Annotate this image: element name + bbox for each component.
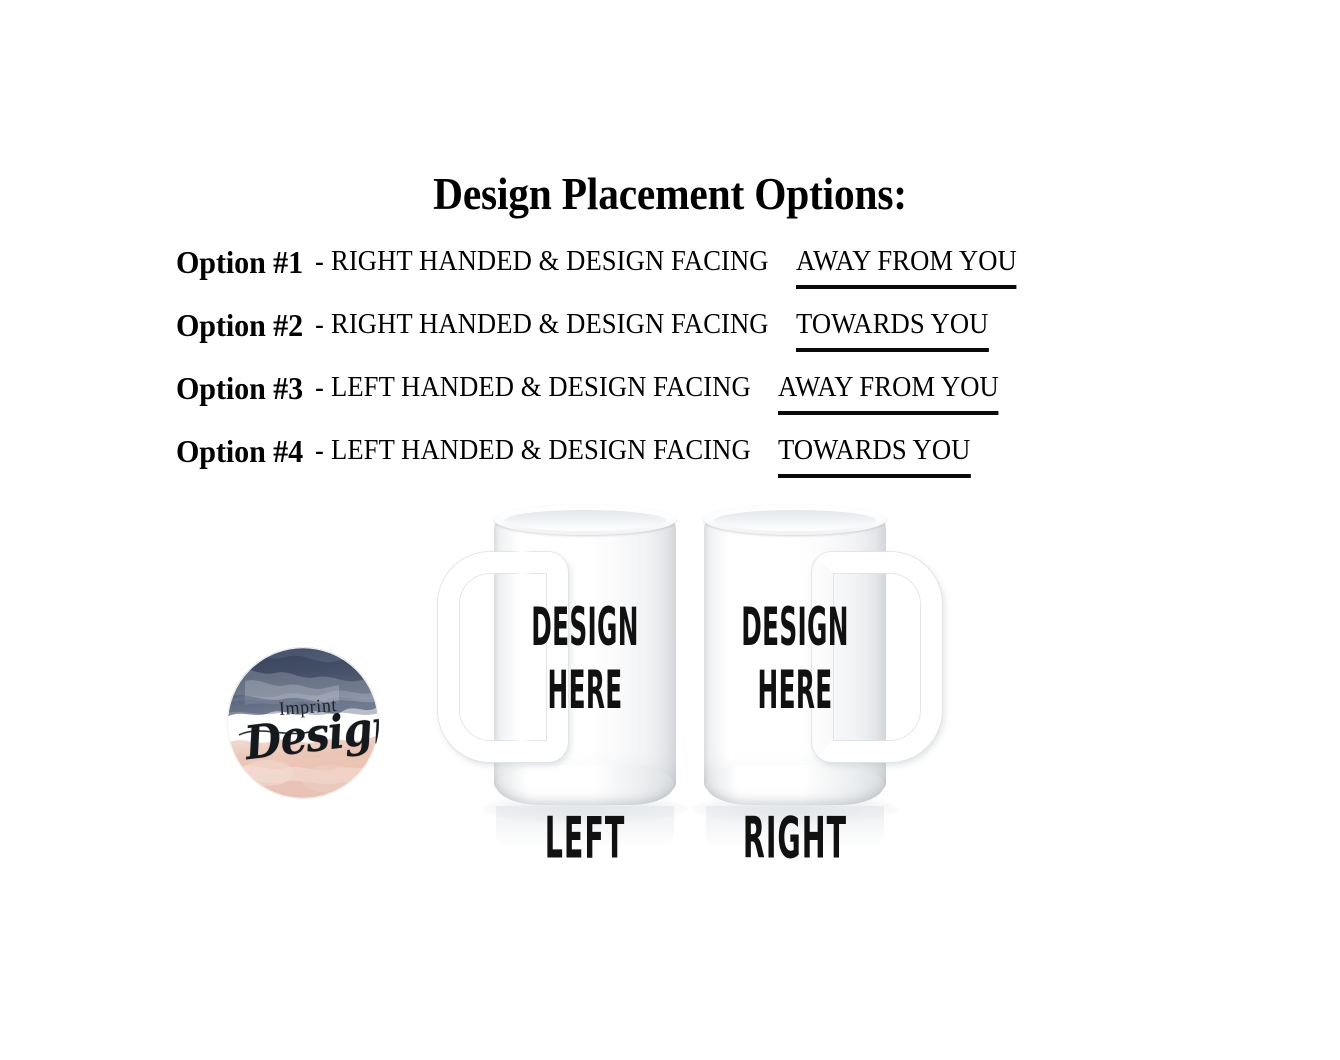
option-emphasis-2: TOWARDS YOU xyxy=(796,306,988,352)
option-body-3: LEFT HANDED & DESIGN FACING xyxy=(331,369,751,407)
option-separator-1: - xyxy=(311,243,331,281)
option-row-3: Option #3 - LEFT HANDED & DESIGN FACING … xyxy=(176,369,1160,432)
mug-right-caption: RIGHT xyxy=(735,808,855,869)
option-body-2: RIGHT HANDED & DESIGN FACING xyxy=(331,306,769,344)
option-body-1: RIGHT HANDED & DESIGN FACING xyxy=(331,243,769,281)
watercolor-badge-icon xyxy=(227,647,379,799)
page-title: Design Placement Options: xyxy=(54,168,1287,220)
mug-right-rim-inner xyxy=(714,510,876,531)
mug-illustration-group: DESIGN HERE LEFT DESIGN HERE RIGHT xyxy=(0,0,1340,1060)
mug-left-rim-inner xyxy=(504,510,666,531)
option-emphasis-1: AWAY FROM YOU xyxy=(796,243,1017,289)
mug-left-caption: LEFT xyxy=(525,808,645,869)
option-separator-2: - xyxy=(311,306,331,344)
option-label-1: Option #1 xyxy=(176,243,303,281)
option-label-3: Option #3 xyxy=(176,369,303,407)
mug-left-print: DESIGN HERE xyxy=(527,596,643,723)
option-emphasis-3: AWAY FROM YOU xyxy=(778,369,999,415)
option-row-4: Option #4 - LEFT HANDED & DESIGN FACING … xyxy=(176,432,1160,495)
mug-left-print-line1: DESIGN xyxy=(527,596,643,659)
option-row-1: Option #1 - RIGHT HANDED & DESIGN FACING… xyxy=(176,243,1160,306)
option-body-4: LEFT HANDED & DESIGN FACING xyxy=(331,432,751,470)
mug-right-print-line2: HERE xyxy=(737,659,853,722)
mug-right-print-line1: DESIGN xyxy=(737,596,853,659)
option-separator-4: - xyxy=(311,432,331,470)
option-row-2: Option #2 - RIGHT HANDED & DESIGN FACING… xyxy=(176,306,1160,369)
mug-left-print-line2: HERE xyxy=(527,659,643,722)
option-separator-3: - xyxy=(311,369,331,407)
brand-logo: Imprint Designs xyxy=(227,647,379,799)
poster-canvas: Design Placement Options: Option #1 - RI… xyxy=(0,0,1340,1060)
option-label-2: Option #2 xyxy=(176,306,303,344)
option-list: Option #1 - RIGHT HANDED & DESIGN FACING… xyxy=(176,243,1160,495)
mug-right: DESIGN HERE RIGHT xyxy=(648,508,942,808)
mug-right-print: DESIGN HERE xyxy=(737,596,853,723)
option-label-4: Option #4 xyxy=(176,432,303,470)
option-emphasis-4: TOWARDS YOU xyxy=(778,432,970,478)
